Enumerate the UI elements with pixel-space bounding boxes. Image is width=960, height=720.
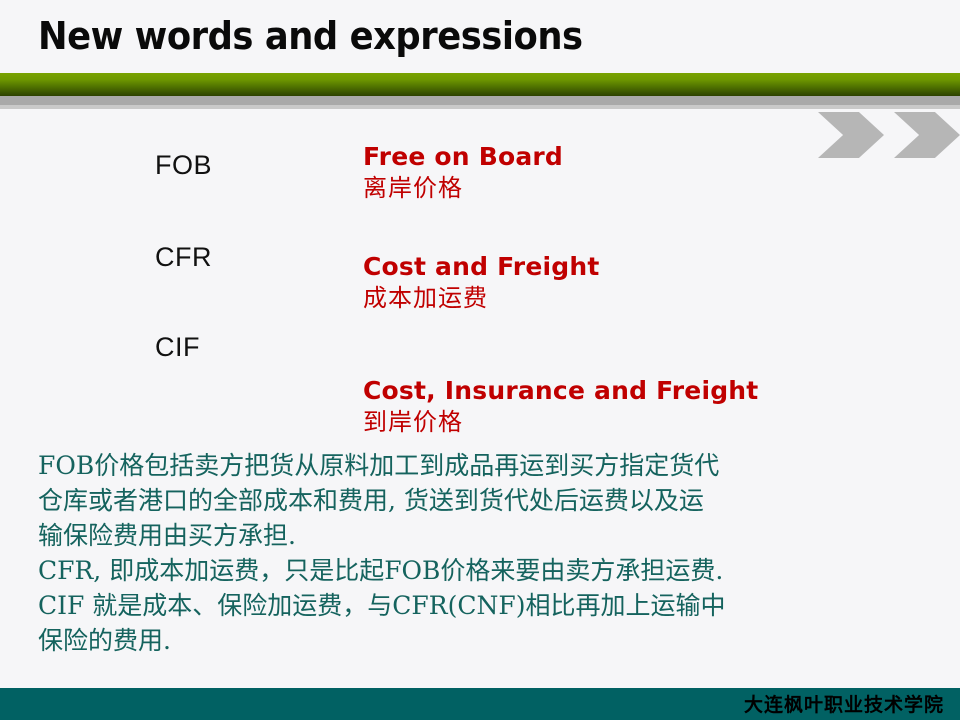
body-line: 输保险费用由买方承担. bbox=[38, 518, 938, 553]
gray-accent-bar-light bbox=[0, 105, 960, 109]
term-definition-chinese: 成本加运费 bbox=[363, 282, 600, 314]
term-abbreviation-fob: FOB bbox=[155, 150, 212, 181]
term-definition-english: Free on Board bbox=[363, 142, 563, 172]
term-definition-cfr: Cost and Freight 成本加运费 bbox=[363, 252, 600, 314]
term-abbreviation-cfr: CFR bbox=[155, 242, 212, 273]
chevron-right-icon bbox=[818, 112, 884, 158]
chevron-right-icon bbox=[894, 112, 960, 158]
green-accent-bar bbox=[0, 73, 960, 96]
term-abbreviation-cif: CIF bbox=[155, 332, 200, 363]
gray-accent-bar bbox=[0, 96, 960, 105]
body-line: CFR, 即成本加运费，只是比起FOB价格来要由卖方承担运费. bbox=[38, 553, 938, 588]
term-definition-english: Cost and Freight bbox=[363, 252, 600, 282]
body-paragraph: FOB价格包括卖方把货从原料加工到成品再运到买方指定货代 仓库或者港口的全部成本… bbox=[38, 448, 938, 658]
footer-institution-name: 大连枫叶职业技术学院 bbox=[744, 690, 944, 717]
term-definition-chinese: 离岸价格 bbox=[363, 172, 563, 204]
term-definition-cif: Cost, Insurance and Freight 到岸价格 bbox=[363, 376, 758, 438]
chevron-decoration-group bbox=[818, 112, 960, 158]
body-line: 保险的费用. bbox=[38, 623, 938, 658]
term-definition-fob: Free on Board 离岸价格 bbox=[363, 142, 563, 204]
body-line: FOB价格包括卖方把货从原料加工到成品再运到买方指定货代 bbox=[38, 448, 938, 483]
body-line: 仓库或者港口的全部成本和费用, 货送到货代处后运费以及运 bbox=[38, 483, 938, 518]
body-line: CIF 就是成本、保险加运费，与CFR(CNF)相比再加上运输中 bbox=[38, 588, 938, 623]
term-definition-chinese: 到岸价格 bbox=[363, 406, 758, 438]
term-definition-english: Cost, Insurance and Freight bbox=[363, 376, 758, 406]
page-title: New words and expressions bbox=[38, 14, 583, 58]
